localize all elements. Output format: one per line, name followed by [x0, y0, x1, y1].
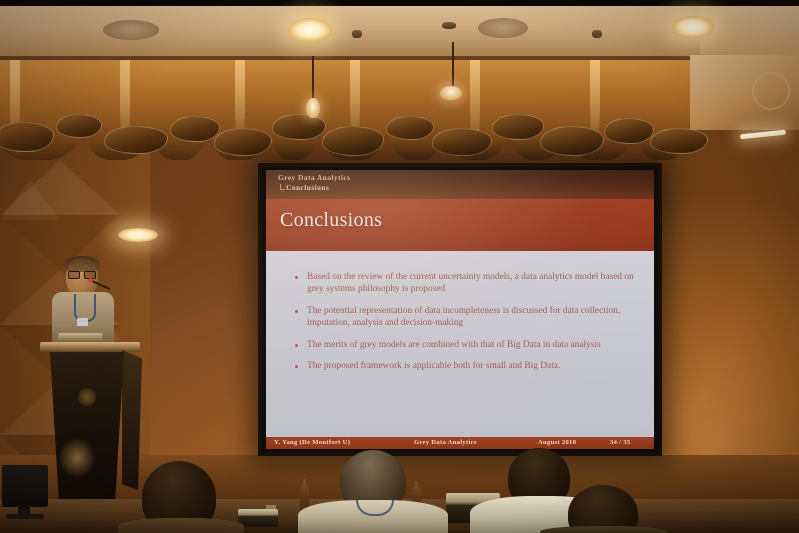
ceiling-fixture-small-1 [352, 30, 362, 38]
footer-title: Grey Data Analytics [414, 439, 477, 446]
list-item: Based on the review of the current uncer… [294, 271, 638, 296]
audience-shoulder-1 [118, 518, 244, 533]
footer-date: August 2010 [538, 439, 576, 446]
hanging-lamp-cord-2 [452, 42, 454, 90]
slide-navigation-bar: Grey Data Analytics Conclusions [266, 170, 654, 199]
equipment-box-2 [238, 509, 278, 527]
ceiling-spotlight-3 [118, 228, 158, 242]
slide-title: Conclusions [280, 209, 382, 232]
list-item: The potential representation of data inc… [294, 305, 638, 330]
water-bottle-1-neck [303, 479, 306, 487]
podium [40, 342, 140, 502]
confidence-monitor [2, 465, 48, 507]
nav-subsection-label: Conclusions [286, 183, 329, 192]
podium-top-surface [40, 342, 140, 352]
nav-section-label: Grey Data Analytics [278, 173, 350, 182]
ceiling-drape-decor [0, 60, 720, 170]
wall-sconce-icon [752, 72, 790, 110]
podium-body [50, 352, 124, 502]
footer-author: Y. Yang (De Montfort U) [274, 439, 350, 446]
footer-page-number: 34 / 35 [610, 439, 630, 446]
recessed-fixture-2 [478, 18, 528, 38]
microphone-head-icon [88, 278, 93, 283]
podium-light-glow [58, 438, 96, 478]
podium-side-panel [122, 350, 142, 490]
slide-title-bar: Conclusions [266, 199, 654, 251]
hanging-lamp-bulb-1 [306, 98, 320, 118]
hanging-lamp-cord-1 [312, 56, 314, 100]
list-item: The proposed framework is applicable bot… [294, 360, 638, 372]
presenter-glasses-icon [68, 271, 96, 277]
water-bottle-2-neck [415, 481, 418, 489]
slide-bullet-list: Based on the review of the current uncer… [294, 271, 638, 381]
ceiling-spotlight-1 [288, 18, 332, 42]
hanging-lamp-bulb-2 [440, 86, 462, 100]
list-item: The merits of grey models are combined w… [294, 339, 638, 351]
monitor-base [6, 514, 44, 519]
recessed-fixture-1 [103, 20, 159, 40]
slide-footer: Y. Yang (De Montfort U) Grey Data Analyt… [266, 437, 654, 449]
ceiling-fixture-small-3 [442, 22, 456, 29]
podium-logo-icon [78, 388, 96, 406]
presentation-slide: Grey Data Analytics Conclusions Conclusi… [266, 170, 654, 449]
presenter-hair [64, 256, 100, 272]
presenter-badge [77, 318, 88, 326]
ceiling-spotlight-2 [672, 16, 714, 38]
slide-body: Based on the review of the current uncer… [266, 251, 654, 437]
nav-tree-tick-icon [280, 184, 285, 190]
conference-photo-scene: Grey Data Analytics Conclusions Conclusi… [0, 0, 799, 533]
audience-shoulder-4 [540, 526, 668, 533]
ceiling-fixture-small-2 [592, 30, 602, 38]
